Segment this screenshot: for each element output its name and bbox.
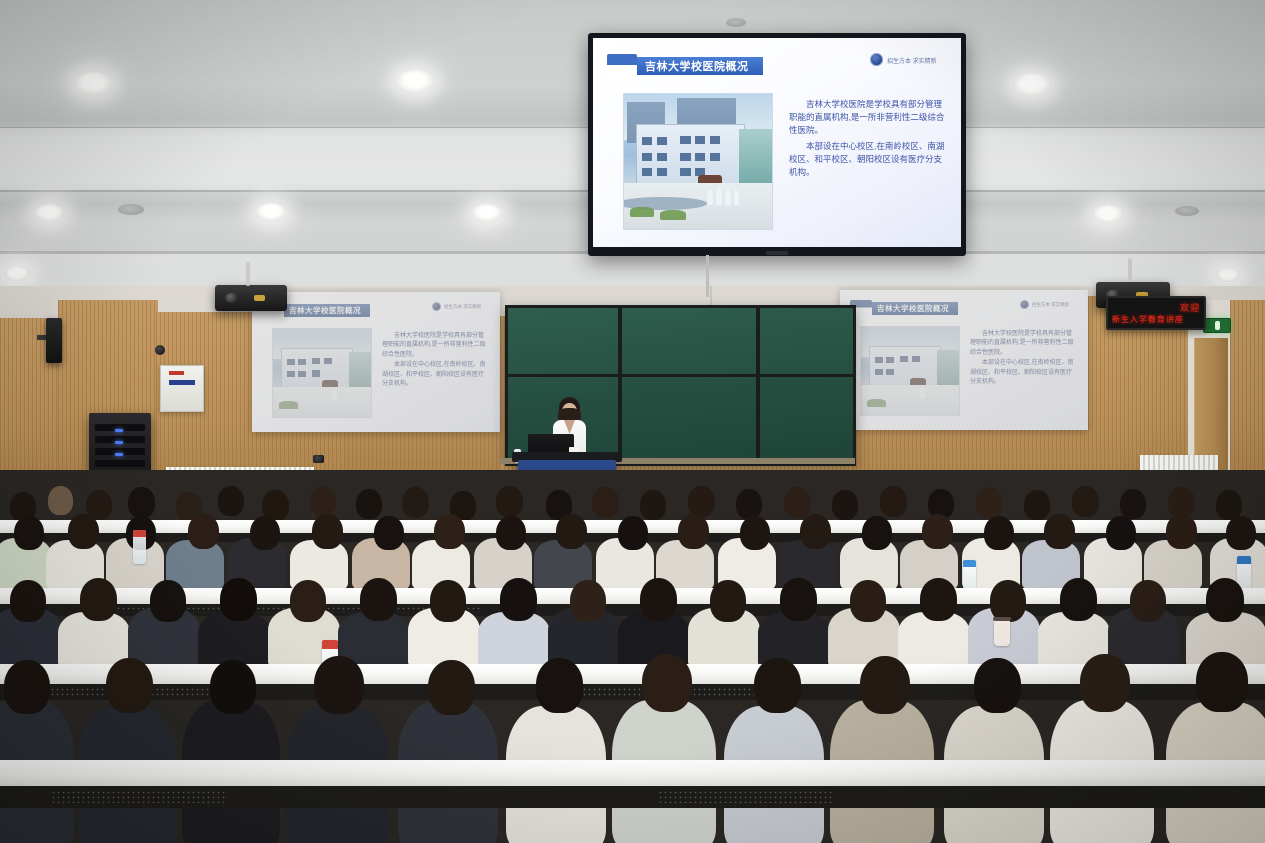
projector-indicator [254,295,266,301]
slide-title: 吉林大学校医院概况 [280,304,370,317]
slide-left-copy: 吉林大学校医院概况 招生方本 求实精新 [252,292,500,432]
rack-unit [95,460,145,467]
projector-mount-pole-right [1128,258,1132,282]
tv-wall-mount [706,255,709,297]
university-logo-icon [870,53,883,66]
slide-paragraph: 本部设在中心校区,在南岭校区、南湖校区、和平校区、朝阳校区设有医疗分支机构。 [382,361,486,389]
rack-led-indicator [115,453,123,456]
slide-title: 吉林大学校医院概况 [631,57,763,75]
desk-vent-perforation [51,790,228,803]
desk-vent-perforation [658,790,835,803]
ceiling-downlight [1216,268,1240,282]
exit-sign-icon [1203,318,1231,333]
led-line-2: 新生入学教育讲座 [1112,314,1200,325]
slide-paragraph: 本部设在中心校区,在南岭校区、南湖校区、和平校区、朝阳校区设有医疗分支机构。 [789,140,949,180]
main-wall-tv[interactable]: 吉林大学校医院概况 招生方本 求实精新 [588,33,966,256]
tv-brand-logo-icon [766,251,788,255]
hospital-building-image [624,94,772,229]
led-message-board: 欢迎 新生入学教育讲座 [1106,296,1206,330]
doctor-avatar-icon [607,54,637,78]
ceiling-projector-left [215,285,287,311]
slide-body-text: 吉林大学校医院是学校具有部分管理职能的直属机构,是一所非营利性二级综合性医院。 … [789,98,949,181]
panel-label [169,380,196,385]
slide-photo [272,328,372,418]
smoke-detector-icon [1175,206,1199,216]
ceiling-downlight [256,203,286,221]
university-logo-icon [432,302,441,311]
slide-photo [860,326,960,416]
security-camera-icon [155,345,165,355]
blackboard-divider [618,308,622,463]
slide-title: 吉林大学校医院概况 [868,302,958,315]
led-line-1: 欢迎 [1112,301,1200,314]
desk-row [0,664,1265,684]
wall-speaker [46,318,62,363]
desk-front-panel [0,786,1265,808]
blackboard-divider [508,374,853,377]
slide-logo-text: 招生方本 求实精新 [1032,302,1069,308]
smoke-detector-icon [726,18,746,27]
ceiling-downlight [74,72,112,95]
slide-right-copy: 吉林大学校医院概况 招生方本 求实精新 [840,290,1088,430]
lecture-hall-photo: 吉林大学校医院概况 招生方本 求实精新 [0,0,1265,843]
ceiling-downlight [34,204,64,222]
university-logo-icon [1020,300,1029,309]
slide-body-text: 吉林大学校医院是学校具有部分管理职能的直属机构,是一所非营利性二级综合性医院。 … [970,330,1074,389]
slide-body-text: 吉林大学校医院是学校具有部分管理职能的直属机构,是一所非营利性二级综合性医院。 … [382,332,486,391]
ceiling-downlight [4,266,30,281]
projector-mount-pole-left [246,262,250,286]
ceiling-downlight [396,70,434,93]
water-bottle [133,530,146,564]
slide-paragraph: 吉林大学校医院是学校具有部分管理职能的直属机构,是一所非营利性二级综合性医院。 [789,98,949,138]
slide-logo-text: 招生方本 求实精新 [444,304,481,310]
left-projection-screen[interactable]: 吉林大学校医院概况 招生方本 求实精新 [252,292,500,432]
projector-lens-icon [225,293,238,303]
rack-led-indicator [115,429,123,432]
slide-paragraph: 本部设在中心校区,在南岭校区、南湖校区、和平校区、朝阳校区设有医疗分支机构。 [970,359,1074,387]
slide-main: 吉林大学校医院概况 招生方本 求实精新 [593,38,961,247]
slide-logo-text: 招生方本 求实精新 [887,56,937,65]
slide-paragraph: 吉林大学校医院是学校具有部分管理职能的直属机构,是一所非营利性二级综合性医院。 [382,332,486,360]
desk-row-front [0,760,1265,786]
hospital-building-image [273,329,371,417]
right-projection-screen[interactable]: 吉林大学校医院概况 招生方本 求实精新 [840,290,1088,430]
ceiling-downlight [472,204,502,222]
slide-paragraph: 吉林大学校医院是学校具有部分管理职能的直属机构,是一所非营利性二级综合性医院。 [970,330,1074,358]
slide-photo [623,93,773,230]
rack-led-indicator [115,441,123,444]
drink-cup [994,620,1010,646]
desk-front-panel [0,684,1265,700]
ceiling-downlight [1013,73,1051,96]
exit-figure-icon [1215,321,1220,330]
blackboard-divider [756,308,760,463]
wall-camera-icon [313,455,324,463]
smoke-detector-icon [118,204,144,215]
electrical-panel [160,365,204,412]
tv-screen: 吉林大学校医院概况 招生方本 求实精新 [593,38,961,247]
ceiling-downlight [1093,205,1123,223]
hospital-building-image [861,327,959,415]
panel-warning-label [169,371,184,375]
